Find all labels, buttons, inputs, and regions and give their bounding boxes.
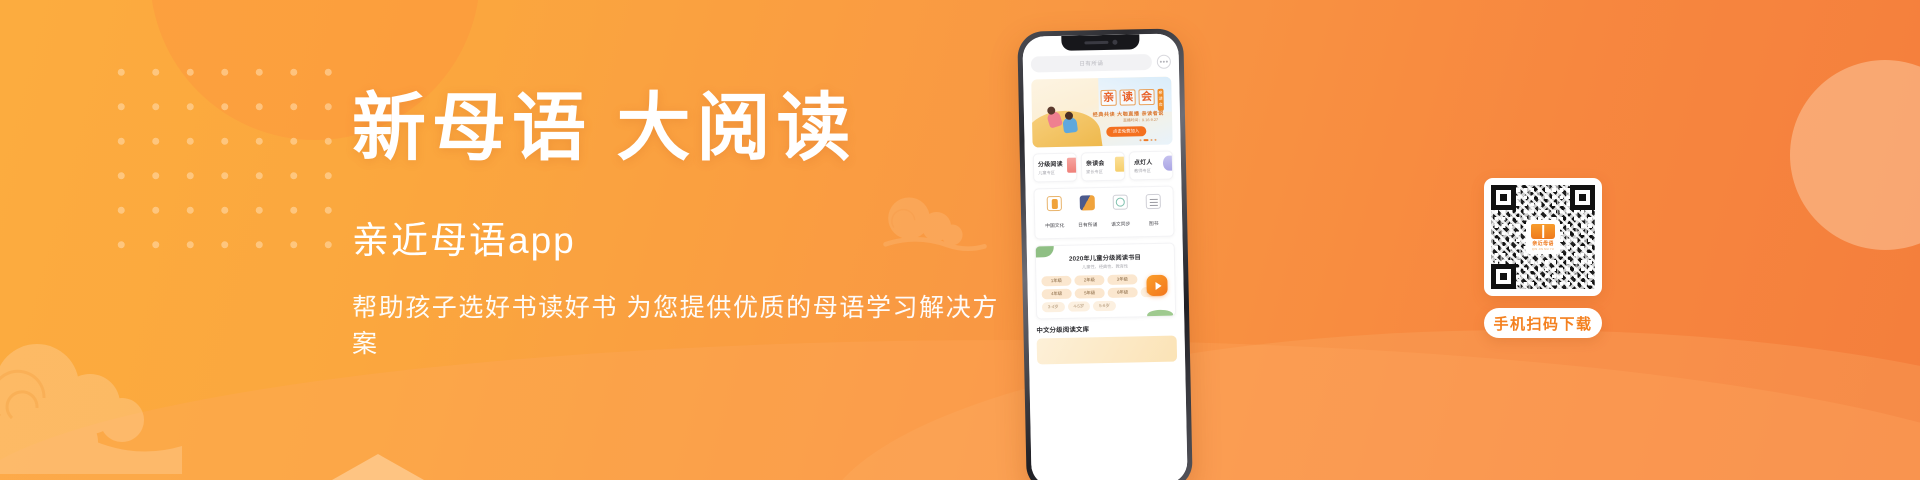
qr-finder-icon [1491, 264, 1516, 289]
quick-icon-label: 语文同步 [1111, 222, 1130, 227]
book-icon [1163, 156, 1174, 171]
qr-logo-title: 亲近母语 [1532, 240, 1554, 247]
qr-brand-logo: 亲近母语 QIN JIN MU YU [1526, 220, 1560, 254]
phone-screen: 日有所诵 亲 读 会 亲读会 经典共读 大咖 [1022, 33, 1187, 480]
hill-decoration-front [0, 340, 1920, 480]
age-chip[interactable]: 4-5岁 [1067, 301, 1090, 311]
book-icon [1115, 157, 1126, 172]
promo-banner: 新母语 大阅读 亲近母语app 帮助孩子选好书读好书 为您提供优质的母语学习解决… [0, 0, 1920, 480]
kid-illustration-2 [1062, 117, 1078, 134]
grade-chip[interactable]: 5年级 [1075, 288, 1105, 299]
category-card-graded-reading[interactable]: 分级阅读 儿童专区 [1033, 153, 1078, 183]
culture-icon [1047, 196, 1062, 211]
circle-decoration-top-right [1790, 60, 1920, 250]
search-placeholder: 日有所诵 [1079, 59, 1103, 68]
hero-banner[interactable]: 亲 读 会 亲读会 经典共读 大咖直播 亲读者说 直播时间：9.16-9.27 … [1031, 77, 1172, 148]
grade-chip[interactable]: 2年级 [1074, 275, 1104, 286]
sync-icon [1113, 195, 1128, 210]
book-icon [1067, 158, 1078, 173]
quick-icon-row: 中国文化 日有所诵 语文同步 图书 [1033, 186, 1174, 240]
grade-chip[interactable]: 4年级 [1042, 289, 1072, 300]
qr-finder-icon [1570, 185, 1595, 210]
hero-char-1: 亲 [1100, 90, 1116, 106]
qr-finder-icon [1491, 185, 1516, 210]
hero-title: 亲 读 会 亲读会 [1100, 89, 1163, 112]
hero-char-3: 会 [1138, 89, 1154, 105]
library-card[interactable] [1037, 336, 1178, 365]
cloud-decoration-bottom-left [0, 324, 192, 474]
qr-logo-subtitle: QIN JIN MU YU [1532, 248, 1554, 251]
card-subtitle: 教师专区 [1134, 168, 1168, 175]
hero-char-2: 读 [1119, 89, 1135, 105]
phone-mockup: 日有所诵 亲 读 会 亲读会 经典共读 大咖 [1017, 28, 1193, 480]
grade-chip[interactable]: 3年级 [1107, 274, 1137, 285]
age-chip[interactable]: 5-6岁 [1093, 301, 1116, 311]
download-button-label: 手机扫码下载 [1493, 313, 1592, 334]
more-dots-icon[interactable] [1157, 55, 1171, 69]
category-card-teacher[interactable]: 点灯人 教师专区 [1129, 151, 1174, 181]
leaf-decoration-bottom [1147, 310, 1173, 320]
carousel-dots[interactable] [1139, 139, 1156, 141]
page-description: 帮助孩子选好书读好书 为您提供优质的母语学习解决方案 [352, 288, 1012, 360]
grade-chip-row: 1年级 2年级 3年级 4年级 5年级 6年级 0-3岁 3-4岁 4-5岁 5… [1041, 274, 1170, 313]
grade-chip[interactable]: 6年级 [1108, 287, 1138, 298]
grade-section-subtitle: 儿童性、经典性、教育性 [1041, 263, 1169, 272]
age-chip[interactable]: 3-4岁 [1042, 302, 1065, 312]
grade-chip[interactable]: 1年级 [1041, 276, 1071, 287]
page-title: 新母语 大阅读 [352, 92, 1012, 166]
recite-icon [1080, 195, 1095, 210]
play-video-icon[interactable] [1146, 275, 1167, 296]
quick-icon-label: 图书 [1149, 222, 1159, 227]
library-title: 中文分级阅读文库 [1036, 323, 1176, 335]
hero-date: 直播时间：9.16-9.27 [1123, 118, 1158, 124]
quick-icon-label: 日有所诵 [1078, 223, 1097, 228]
grade-section-title: 2020年儿童分级阅读书目 [1041, 252, 1169, 264]
category-card-parent-club[interactable]: 亲读会 家长专区 [1081, 152, 1126, 182]
quick-icon-culture[interactable]: 中国文化 [1038, 196, 1072, 233]
phone-notch [1061, 34, 1139, 51]
download-block: 亲近母语 QIN JIN MU YU 手机扫码下载 [1484, 178, 1602, 338]
quick-icon-recite[interactable]: 日有所诵 [1071, 195, 1105, 232]
search-input[interactable]: 日有所诵 [1031, 54, 1152, 73]
quick-icon-label: 中国文化 [1045, 224, 1064, 229]
app-name: 亲近母语app [352, 210, 1012, 264]
hero-tag: 亲读会 [1157, 89, 1163, 111]
quick-icon-sync[interactable]: 语文同步 [1104, 194, 1138, 231]
book-icon [1146, 194, 1161, 209]
grade-section: 2020年儿童分级阅读书目 儿童性、经典性、教育性 1年级 2年级 3年级 4年… [1035, 243, 1177, 320]
download-button[interactable]: 手机扫码下载 [1484, 308, 1602, 338]
qr-code[interactable]: 亲近母语 QIN JIN MU YU [1484, 178, 1602, 296]
dot-grid-decoration [104, 55, 354, 255]
quick-icon-books[interactable]: 图书 [1137, 194, 1171, 231]
category-cards: 分级阅读 儿童专区 亲读会 家长专区 点灯人 教师专区 [1033, 151, 1174, 183]
open-book-icon [1531, 224, 1555, 239]
copy-block: 新母语 大阅读 亲近母语app 帮助孩子选好书读好书 为您提供优质的母语学习解决… [352, 92, 1012, 360]
hero-cta-button[interactable]: 点击免费加入 [1106, 126, 1147, 137]
